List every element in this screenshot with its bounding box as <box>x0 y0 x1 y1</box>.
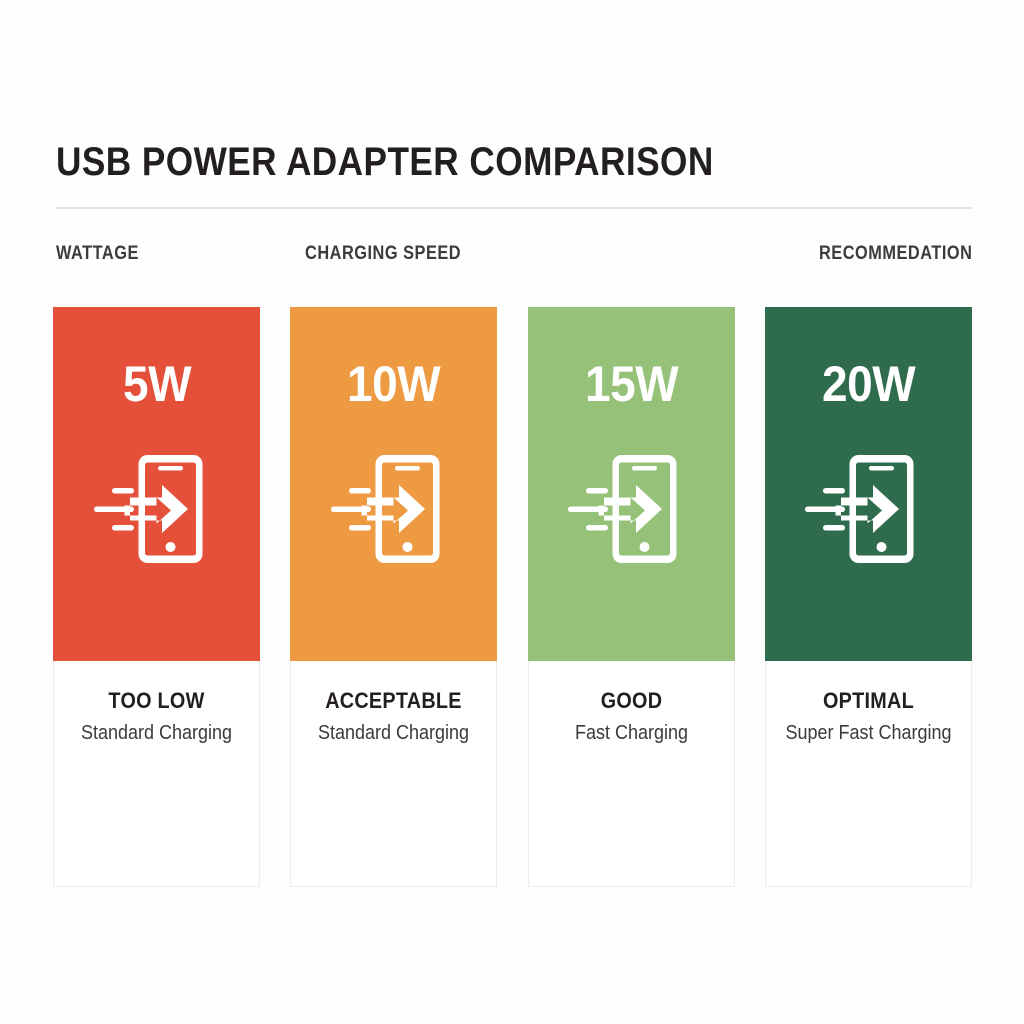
card-color-band: 5W <box>53 307 260 661</box>
title-divider <box>56 207 972 209</box>
verdict-label: TOO LOW <box>64 689 249 713</box>
infographic-canvas: USB POWER ADAPTER COMPARISON WATTAGE CHA… <box>0 0 1024 1024</box>
verdict-label: OPTIMAL <box>776 689 961 713</box>
card-color-band: 15W <box>528 307 735 661</box>
card-body: TOO LOW Standard Charging <box>54 661 259 886</box>
adapter-card[interactable]: 10W ACCEPTABLE Standard Charging <box>290 307 497 887</box>
column-header-wattage: WATTAGE <box>56 243 139 265</box>
verdict-label: ACCEPTABLE <box>302 689 487 713</box>
card-color-band: 10W <box>290 307 497 661</box>
card-body: GOOD Fast Charging <box>529 661 734 886</box>
wattage-value: 10W <box>347 359 440 409</box>
adapter-card[interactable]: 5W TOO LOW Standard Charging <box>53 307 260 887</box>
card-color-band: 20W <box>765 307 972 661</box>
charging-type-label: Standard Charging <box>64 722 249 745</box>
phone-fast-charge-icon <box>801 447 935 571</box>
comparison-cards-row: 5W TOO LOW Standard Charging <box>53 307 972 887</box>
card-body: OPTIMAL Super Fast Charging <box>766 661 971 886</box>
wattage-value: 20W <box>822 359 915 409</box>
page-title: USB POWER ADAPTER COMPARISON <box>56 140 862 185</box>
charging-type-label: Fast Charging <box>539 722 724 745</box>
wattage-value: 15W <box>585 359 678 409</box>
phone-fast-charge-icon <box>90 447 224 571</box>
adapter-card[interactable]: 20W OPTIMAL Super Fast Charging <box>765 307 972 887</box>
verdict-label: GOOD <box>539 689 724 713</box>
column-headers: WATTAGE CHARGING SPEED RECOMMEDATION <box>56 243 972 267</box>
adapter-card[interactable]: 15W GOOD Fast Charging <box>528 307 735 887</box>
phone-fast-charge-icon <box>564 447 698 571</box>
charging-type-label: Standard Charging <box>302 722 487 745</box>
phone-fast-charge-icon <box>327 447 461 571</box>
card-body: ACCEPTABLE Standard Charging <box>291 661 496 886</box>
column-header-recommendation: RECOMMEDATION <box>819 243 972 265</box>
wattage-value: 5W <box>122 359 190 409</box>
column-header-charging-speed: CHARGING SPEED <box>305 243 461 265</box>
charging-type-label: Super Fast Charging <box>776 722 961 745</box>
header-block: USB POWER ADAPTER COMPARISON <box>56 140 972 209</box>
